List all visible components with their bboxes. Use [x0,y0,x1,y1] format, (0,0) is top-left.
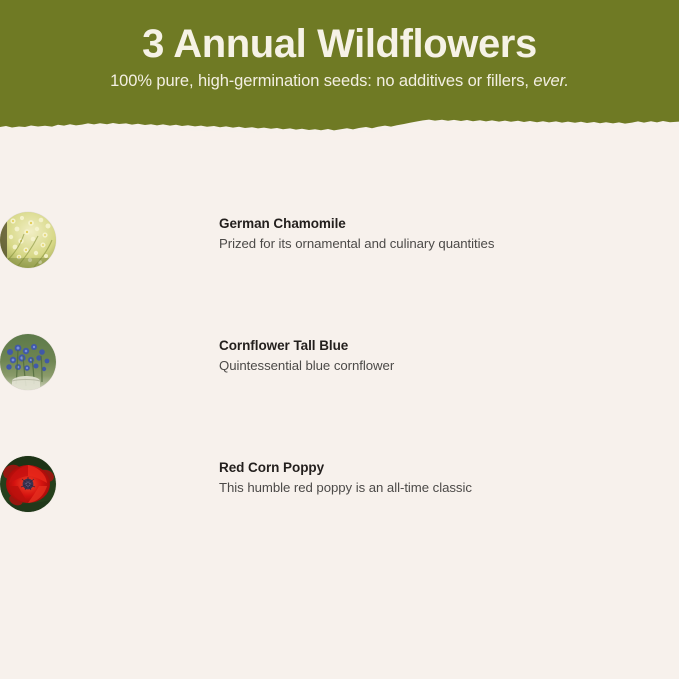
flower-name: German Chamomile [219,215,659,233]
subtitle-emphasis-text: ever. [533,72,569,90]
flower-name: Red Corn Poppy [219,459,659,477]
page-title: 3 Annual Wildflowers [0,22,679,66]
german-chamomile-photo [0,212,56,268]
cornflower-tall-blue-photo [0,334,56,390]
flower-description: Prized for its ornamental and culinary q… [219,235,659,253]
list-item: Red Corn Poppy This humble red poppy is … [0,399,679,521]
page-subtitle: 100% pure, high-germination seeds: no ad… [0,72,679,92]
flower-text-block: Cornflower Tall Blue Quintessential blue… [219,337,659,375]
header-banner: 3 Annual Wildflowers 100% pure, high-ger… [0,0,679,140]
flower-list: German Chamomile Prized for its ornament… [0,155,679,521]
red-corn-poppy-photo [0,456,56,512]
flower-description: This humble red poppy is an all-time cla… [219,479,659,497]
cornflower-tall-blue-thumbnail-icon [0,334,56,390]
flower-text-block: German Chamomile Prized for its ornament… [219,215,659,253]
header-content: 3 Annual Wildflowers 100% pure, high-ger… [0,0,679,92]
list-item: Cornflower Tall Blue Quintessential blue… [0,277,679,399]
list-item: German Chamomile Prized for its ornament… [0,155,679,277]
product-feature-card: 3 Annual Wildflowers 100% pure, high-ger… [0,0,679,679]
flower-text-block: Red Corn Poppy This humble red poppy is … [219,459,659,497]
subtitle-main-text: 100% pure, high-germination seeds: no ad… [110,72,533,90]
flower-description: Quintessential blue cornflower [219,357,659,375]
flower-name: Cornflower Tall Blue [219,337,659,355]
german-chamomile-thumbnail-icon [0,212,56,268]
red-corn-poppy-thumbnail-icon [0,456,56,512]
torn-paper-edge-divider [0,107,679,140]
